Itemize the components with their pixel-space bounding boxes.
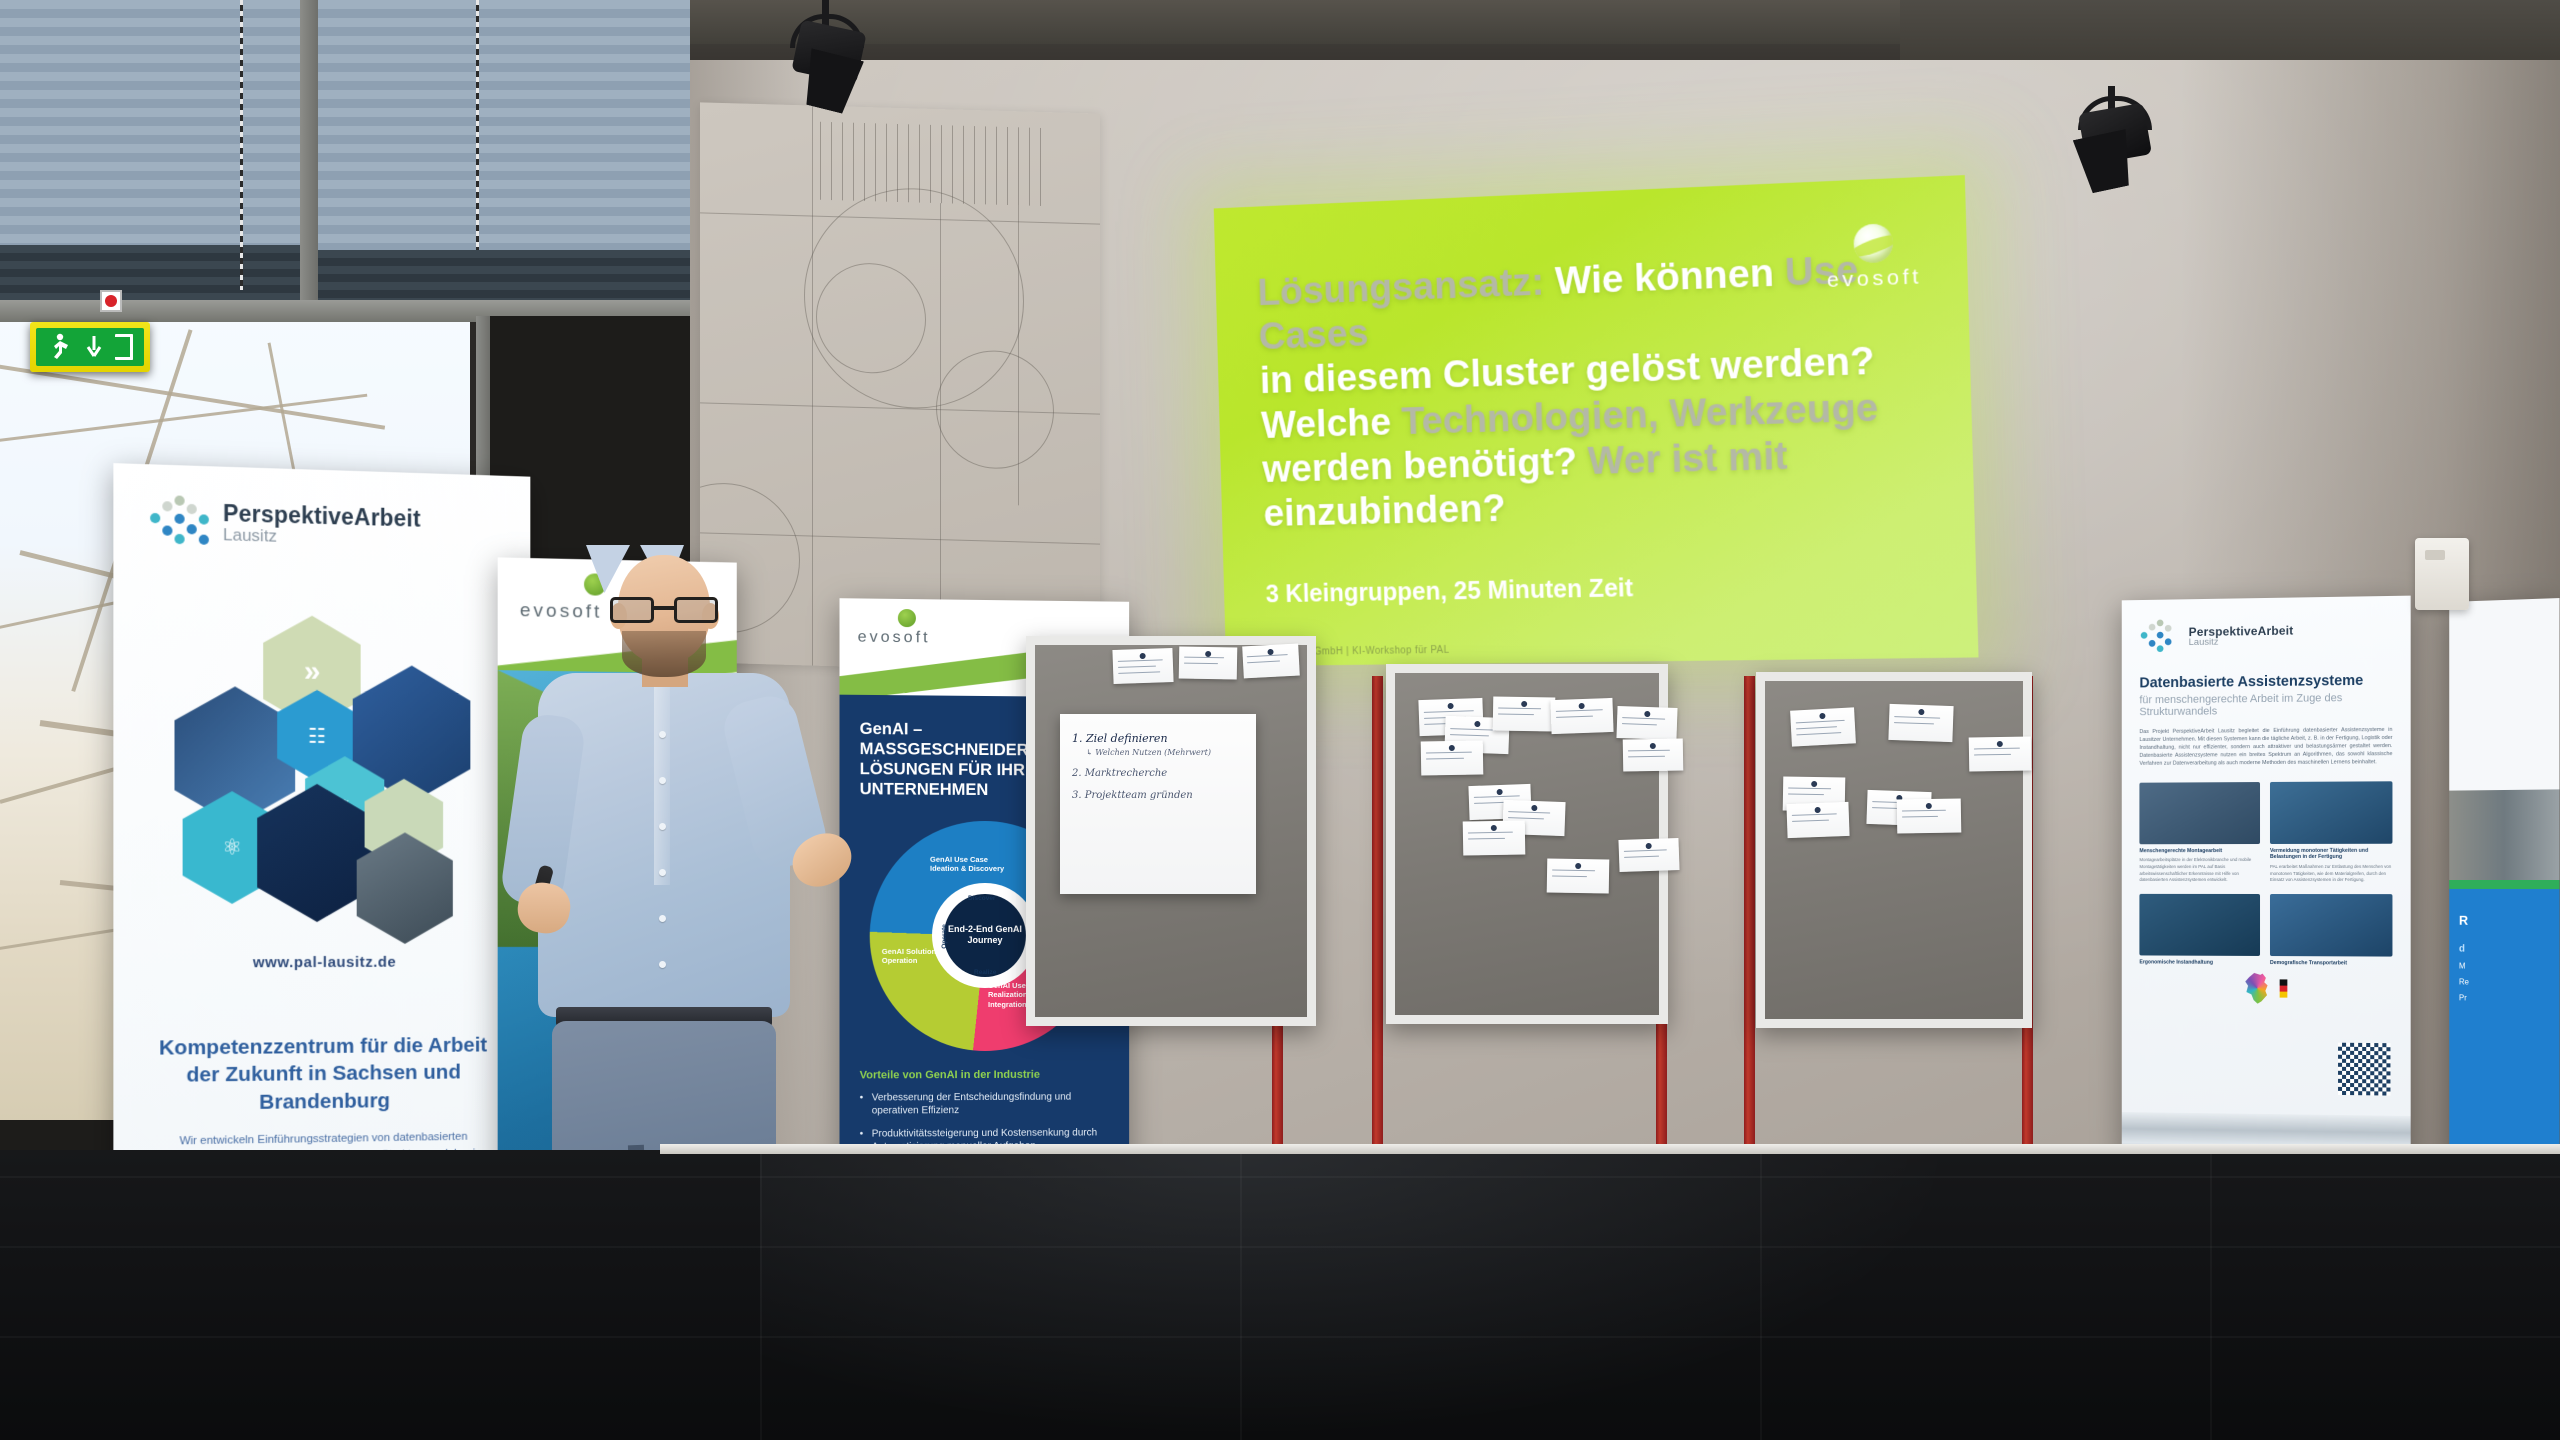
edge-banner-photos xyxy=(2449,790,2559,880)
window-blind-left[interactable] xyxy=(0,0,300,245)
pal-website-url: www.pal-lausitz.de xyxy=(148,954,497,972)
german-flag-icon-right xyxy=(2279,979,2287,997)
pinned-card[interactable] xyxy=(1463,820,1526,855)
evosoft-wordmark: evosoft xyxy=(1825,265,1925,293)
donut-center-label: End-2-End GenAI Journey xyxy=(944,894,1026,977)
down-arrow-icon xyxy=(86,336,102,358)
pinned-card[interactable] xyxy=(1790,707,1856,746)
pal-headline: Kompetenzzentrum für die Arbeit der Zuku… xyxy=(148,1032,497,1118)
pinned-card[interactable] xyxy=(1888,704,1953,742)
pinned-card[interactable] xyxy=(1969,736,2032,771)
pinned-card[interactable] xyxy=(1897,798,1962,833)
pal-right-intro: Das Projekt PerspektiveArbeit Lausitz be… xyxy=(2139,726,2392,768)
slide-title-part-2: Wie können xyxy=(1544,251,1775,303)
pal-right-txt-2: PAL erarbeitet Maßnahmen zur Entlastung … xyxy=(2270,864,2392,884)
pinned-card[interactable] xyxy=(1623,738,1684,771)
window-blind-left-lower[interactable] xyxy=(0,245,300,307)
pal-right-cap-4: Demografische Transportarbeit xyxy=(2270,960,2392,967)
donut-segment-label-5: GenAI Solution Operation xyxy=(882,946,944,966)
slide-title-part-7: Wer ist mit xyxy=(1576,434,1788,483)
genai-benefit-1: Verbesserung der Entscheidungsfindung un… xyxy=(860,1090,1110,1118)
pinned-card[interactable] xyxy=(1493,696,1556,731)
rollup-banner-pal-right: PerspektiveArbeit Lausitz Datenbasierte … xyxy=(2122,596,2411,1161)
running-man-exit-icon xyxy=(36,328,144,366)
pal-dots-icon xyxy=(148,495,211,547)
flipchart-line-2: ↳ Welchen Nutzen (Mehrwert) xyxy=(1086,748,1211,757)
pinned-card[interactable] xyxy=(1547,858,1610,893)
flipchart-line-4: 3. Projektteam gründen xyxy=(1072,790,1193,801)
projection-screen: evosoft Lösungsansatz: Wie können Use Ca… xyxy=(1214,175,1979,666)
emergency-stop-button-icon[interactable] xyxy=(100,290,122,312)
wall-sensor-icon xyxy=(2415,538,2469,610)
slide-title-part-4: Welche xyxy=(1261,401,1392,447)
blind-cord-right[interactable] xyxy=(476,0,479,250)
pinned-card[interactable] xyxy=(1179,646,1238,679)
pinned-card[interactable] xyxy=(1242,644,1300,679)
bmbf-logo-right xyxy=(2279,979,2287,997)
pinboard-right[interactable] xyxy=(1756,672,2032,1028)
wall-baseboard xyxy=(660,1144,2560,1154)
pal-logo: PerspektiveArbeit Lausitz xyxy=(148,495,497,555)
edge-banner-bullet-3: Pr xyxy=(2459,993,2550,1003)
flipchart-line-3: 2. Marktrecherche xyxy=(1072,768,1167,779)
pal-right-cell-2: Vermeidung monotoner Tätigkeiten und Bel… xyxy=(2270,781,2392,884)
pal-right-cell-3: Ergonomische Instandhaltung xyxy=(2139,894,2260,967)
pal-right-subtitle: für menschengerechte Arbeit im Zuge des … xyxy=(2139,692,2392,719)
qr-code-icon xyxy=(2338,1043,2390,1096)
workplace-photo-2 xyxy=(2270,781,2392,844)
edge-banner-subtitle: d xyxy=(2459,944,2550,956)
germany-map-icon-right xyxy=(2243,973,2271,1004)
pal-dots-icon-right xyxy=(2139,619,2167,642)
presentation-room-scene: evosoft Lösungsansatz: Wie können Use Ca… xyxy=(0,0,2560,1440)
flipchart-paper[interactable]: 1. Ziel definieren ↳ Welchen Nutzen (Meh… xyxy=(1060,714,1256,894)
pal-hexagon-graphic: » ☷ ☼ ⚛ xyxy=(164,612,482,926)
edge-banner-title: R xyxy=(2459,913,2550,928)
pinned-card[interactable] xyxy=(1421,740,1484,775)
edge-banner-bullet-2: Re xyxy=(2459,977,2550,987)
pal-right-cap-2: Vermeidung monotoner Tätigkeiten und Bel… xyxy=(2270,847,2392,861)
floor-reflection xyxy=(760,1150,1960,1440)
pal-right-cap-3: Ergonomische Instandhaltung xyxy=(2139,959,2260,966)
pinned-card[interactable] xyxy=(1786,802,1849,838)
donut-ring-label-operate: Operate xyxy=(941,924,948,949)
pinboard-center[interactable] xyxy=(1386,664,1668,1024)
rollup-banner-edge-right: R d M Re Pr xyxy=(2449,598,2559,1162)
exit-door-icon xyxy=(115,334,133,360)
eyeglasses-icon xyxy=(610,597,718,623)
slide-subtitle: 3 Kleingruppen, 25 Minuten Zeit xyxy=(1265,569,1935,609)
pinned-card[interactable] xyxy=(1112,648,1173,684)
pinned-card[interactable] xyxy=(1550,698,1613,734)
genai-benefits-heading: Vorteile von GenAI in der Industrie xyxy=(860,1068,1110,1081)
pinned-card[interactable] xyxy=(1616,706,1677,740)
slide-title-part-1: Lösungsansatz: xyxy=(1257,261,1545,314)
pal-right-cell-1: Menschengerechte Montagearbeit Montagear… xyxy=(2139,782,2260,884)
pinned-card[interactable] xyxy=(1618,838,1679,872)
evosoft-sphere-icon xyxy=(1853,223,1893,263)
exit-sign xyxy=(30,322,150,372)
workplace-photo-3 xyxy=(2139,894,2260,956)
presenter-beard xyxy=(622,631,706,677)
workplace-photo-4 xyxy=(2270,894,2392,957)
pal-right-cell-grid: Menschengerechte Montagearbeit Montagear… xyxy=(2139,781,2392,967)
slide-title-part-6: werden benötigt? xyxy=(1262,440,1578,491)
workplace-photo-1 xyxy=(2139,782,2260,844)
pal-right-cap-1: Menschengerechte Montagearbeit xyxy=(2139,848,2260,855)
blind-cord-left[interactable] xyxy=(240,0,243,290)
pal-right-cell-4: Demografische Transportarbeit xyxy=(2270,894,2392,967)
flipchart-line-1: 1. Ziel definieren xyxy=(1072,732,1168,745)
pal-right-txt-1: Montagearbeitsplätze in der Elektronikbr… xyxy=(2139,857,2260,883)
window-mullion-vertical xyxy=(300,0,318,320)
pal-logo-right: PerspektiveArbeit Lausitz xyxy=(2139,616,2392,654)
edge-banner-bullet-1: M xyxy=(2459,962,2550,972)
evosoft-sphere-icon-genai xyxy=(898,609,916,627)
window-blind-right[interactable] xyxy=(318,0,690,250)
pal-right-title: Datenbasierte Assistenzsysteme xyxy=(2139,672,2392,691)
evosoft-logo: evosoft xyxy=(1823,222,1924,293)
